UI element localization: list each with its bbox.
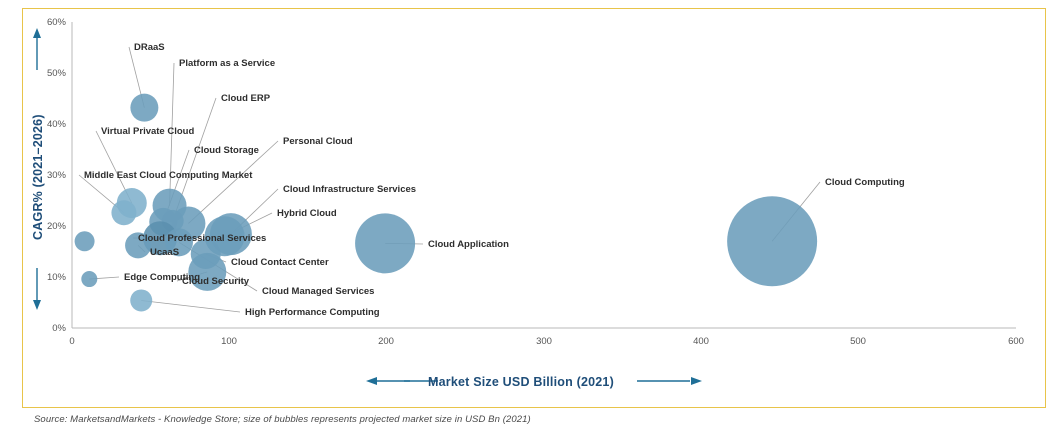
bubble-label: Cloud Computing (825, 177, 905, 188)
x-tick-600: 600 (1008, 336, 1024, 347)
x-tick-200: 200 (378, 336, 394, 347)
y-tick-0: 0% (52, 323, 66, 334)
source-note: Source: MarketsandMarkets - Knowledge St… (34, 414, 531, 425)
bubble-label: Cloud Storage (194, 145, 259, 156)
bubble-label: Virtual Private Cloud (101, 126, 194, 137)
bubble-point[interactable] (355, 213, 415, 273)
y-axis-title: CAGR% (2021–2026) (31, 114, 45, 240)
bubble-label: DRaaS (134, 42, 165, 53)
y-tick-10: 10% (47, 272, 67, 283)
y-axis-title-group: CAGR% (2021–2026) (31, 28, 45, 310)
bubble-point[interactable] (727, 196, 817, 286)
bubble-label: Cloud Infrastructure Services (283, 184, 416, 195)
bubble-point[interactable] (111, 200, 136, 225)
y-tick-60: 60% (47, 17, 67, 28)
chart-canvas: CAGR% (2021–2026) 0% 10% 20% 30% 40% 50%… (0, 0, 1062, 430)
bubble-label: Platform as a Service (179, 58, 275, 69)
bubble-label: Cloud ERP (221, 93, 271, 104)
bubble-label: Hybrid Cloud (277, 208, 337, 219)
bubble-label: Personal Cloud (283, 136, 353, 147)
y-tick-50: 50% (47, 68, 67, 79)
bubble-label: UcaaS (150, 247, 179, 258)
bubble-point[interactable] (75, 231, 95, 251)
bubble-point[interactable] (81, 271, 97, 287)
bubble-label: Cloud Managed Services (262, 286, 374, 297)
x-axis-title: Market Size USD Billion (2021) (428, 375, 614, 389)
x-tick-0: 0 (69, 336, 74, 347)
x-tick-100: 100 (221, 336, 237, 347)
leader-line (141, 300, 240, 312)
y-tick-20: 20% (47, 221, 67, 232)
x-axis-title-group: Market Size USD Billion (2021) (366, 375, 702, 389)
bubble-label: Middle East Cloud Computing Market (84, 170, 253, 181)
bubble-point[interactable] (130, 289, 152, 311)
bubble-chart-page: CAGR% (2021–2026) 0% 10% 20% 30% 40% 50%… (0, 0, 1062, 430)
bubble-label: Cloud Security (182, 276, 250, 287)
x-tick-labels: 0 100 200 300 400 500 600 (69, 336, 1024, 347)
bubble-label: Cloud Application (428, 239, 509, 250)
bubble-label: High Performance Computing (245, 307, 380, 318)
x-tick-300: 300 (536, 336, 552, 347)
y-tick-labels: 0% 10% 20% 30% 40% 50% 60% (47, 17, 67, 334)
x-tick-400: 400 (693, 336, 709, 347)
y-tick-40: 40% (47, 119, 67, 130)
bubble-label: Cloud Professional Services (138, 233, 266, 244)
y-tick-30: 30% (47, 170, 67, 181)
bubble-label: Cloud Contact Center (231, 257, 329, 268)
bubble-point[interactable] (130, 94, 158, 122)
x-tick-500: 500 (850, 336, 866, 347)
